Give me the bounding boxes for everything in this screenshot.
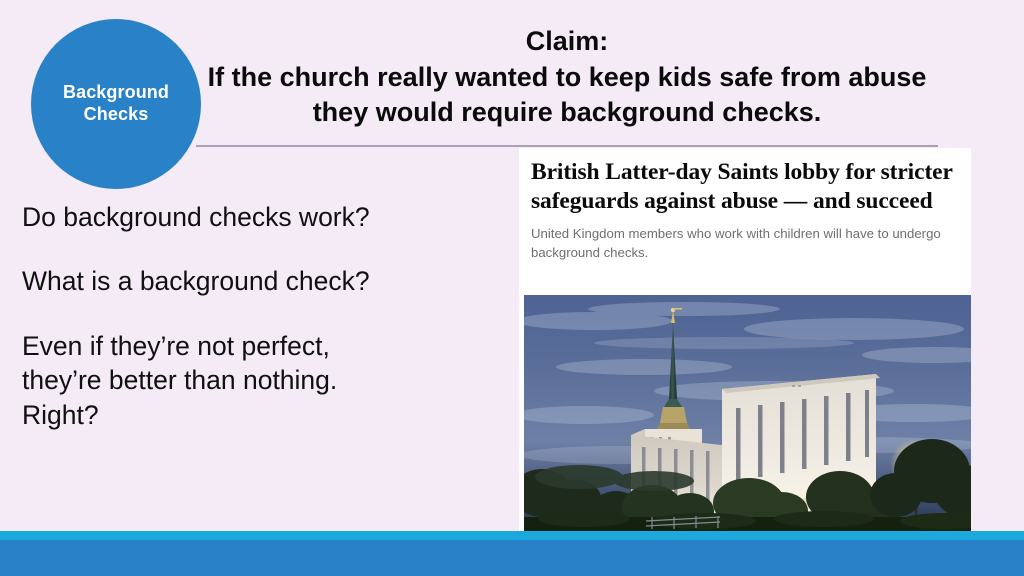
news-article-card: British Latter-day Saints lobby for stri… [519,148,971,532]
question-item-3: Even if they’re not perfect, they’re bet… [22,329,492,432]
badge-label: Background Checks [45,82,187,126]
question-list: Do background checks work? What is a bac… [22,200,492,432]
article-subheading: United Kingdom members who work with chi… [519,216,971,262]
claim-label: Claim: [196,24,938,60]
page-title: Claim: If the church really wanted to ke… [196,24,938,131]
temple-photo [524,295,971,532]
slide-canvas: Background Checks Claim: If the church r… [0,0,1024,576]
footer-bar [0,540,1024,576]
background-checks-badge: Background Checks [31,19,201,189]
title-divider [196,145,938,147]
footer-accent-stripe [0,531,1024,540]
question-item-1: Do background checks work? [22,200,492,234]
article-headline: British Latter-day Saints lobby for stri… [519,148,971,216]
question-item-2: What is a background check? [22,264,492,298]
claim-statement: If the church really wanted to keep kids… [196,60,938,131]
temple-photo-illustration [524,295,971,532]
